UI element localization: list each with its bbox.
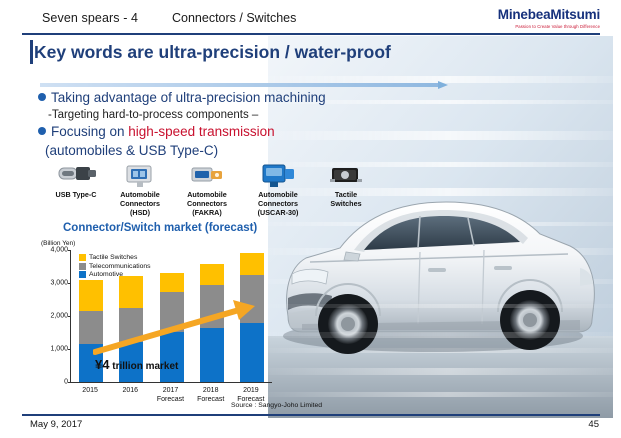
- header-divider: [22, 33, 600, 35]
- product-label-usb: USB Type-C: [45, 190, 107, 199]
- tactile-switch-icon: [315, 160, 377, 190]
- bullet-item-3: Focusing on high-speed transmission: [38, 124, 275, 139]
- product-usb-type-c: USB Type-C: [45, 160, 107, 199]
- footer-page-number: 45: [588, 419, 599, 430]
- x-axis-tick-label: 2017Forecast: [150, 387, 190, 404]
- arrow-bar: [40, 83, 440, 87]
- bullet-item-2: -Targeting hard-to-process components –: [48, 109, 258, 121]
- footer-date: May 9, 2017: [30, 419, 82, 430]
- product-uscar30: AutomobileConnectors(USCAR-30): [241, 160, 315, 217]
- product-icon-row: USB Type-C AutomobileConnectors(HSD): [45, 160, 375, 216]
- legend-label-automotive: Automotive: [89, 271, 123, 278]
- y-axis-tick-label: 4,000: [50, 247, 68, 254]
- bullet-dot-icon: [38, 93, 46, 101]
- automobile-connector-hsd-icon: [107, 160, 173, 190]
- chart-bar-segment: [160, 273, 184, 292]
- product-fakra: AutomobileConnectors(FAKRA): [173, 160, 241, 217]
- logo-name: MinebeaMitsumi: [498, 8, 600, 22]
- chart-bar-segment: [119, 308, 143, 342]
- chart-bar-segment: [200, 328, 224, 382]
- bullet-4-text: (automobiles & USB Type-C): [45, 143, 218, 158]
- bullet-2-text: -Targeting hard-to-process components –: [48, 109, 258, 121]
- page-title: Key words are ultra-precision / water-pr…: [34, 42, 391, 63]
- logo-tagline: Passion to Create Value through Differen…: [498, 23, 600, 30]
- slide-header: Seven spears - 4 Connectors / Switches M…: [22, 8, 600, 34]
- product-tactile-switch: TactileSwitches: [315, 160, 377, 208]
- callout-text: trillion market: [109, 361, 178, 372]
- x-axis-tick-label: 2016: [110, 387, 150, 396]
- automobile-connector-uscar30-icon: [241, 160, 315, 190]
- chart-bar-segment: [79, 280, 103, 311]
- decorative-arrow: [40, 81, 460, 88]
- company-logo: MinebeaMitsumi Passion to Create Value t…: [498, 8, 600, 30]
- automobile-connector-fakra-icon: [173, 160, 241, 190]
- legend-label-tactile: Tactile Switches: [89, 254, 137, 261]
- y-axis-tick-mark: [68, 349, 71, 350]
- legend-item-tactile: Tactile Switches: [79, 254, 151, 261]
- legend-swatch-telecom: [79, 263, 86, 270]
- market-forecast-chart: Connector/Switch market (forecast) (Bill…: [33, 222, 289, 408]
- y-axis-tick-mark: [68, 316, 71, 317]
- chart-bar-segment: [240, 323, 264, 382]
- chart-bar-group: [200, 264, 224, 382]
- chart-bar-segment: [200, 285, 224, 328]
- bullet-item-1: Taking advantage of ultra-precision mach…: [38, 90, 326, 105]
- x-axis-tick-label: 2018Forecast: [191, 387, 231, 404]
- chart-bar-segment: [79, 311, 103, 344]
- arrow-tip: [438, 81, 448, 89]
- chart-source: Source : Sangyo-Joho Limited: [231, 402, 322, 409]
- product-label-fakra: AutomobileConnectors(FAKRA): [173, 190, 241, 217]
- chart-bar-segment: [240, 253, 264, 275]
- x-axis-tick-label: 2015: [70, 387, 110, 396]
- product-hsd: AutomobileConnectors(HSD): [107, 160, 173, 217]
- title-accent-bar: [30, 40, 33, 64]
- slide-root: Seven spears - 4 Connectors / Switches M…: [0, 0, 621, 438]
- bullet-item-4: (automobiles & USB Type-C): [45, 143, 218, 158]
- chart-bar-segment: [200, 264, 224, 284]
- bullet-dot-icon: [38, 127, 46, 135]
- legend-label-telecom: Telecommunications: [89, 263, 151, 270]
- chart-bar-segment: [119, 276, 143, 308]
- chart-title: Connector/Switch market (forecast): [63, 222, 257, 234]
- chart-bar-group: [240, 253, 264, 382]
- legend-item-automotive: Automotive: [79, 271, 151, 278]
- footer-divider: [22, 414, 600, 416]
- y-axis-tick-mark: [68, 250, 71, 251]
- product-label-hsd: AutomobileConnectors(HSD): [107, 190, 173, 217]
- legend-swatch-automotive: [79, 271, 86, 278]
- product-label-tactile: TactileSwitches: [315, 190, 377, 208]
- market-size-callout: ¥4 trillion market: [95, 357, 178, 372]
- chart-bar-segment: [160, 292, 184, 332]
- bullet-3-prefix: Focusing on: [51, 124, 128, 139]
- product-label-uscar30: AutomobileConnectors(USCAR-30): [241, 190, 315, 217]
- header-subtitle: Connectors / Switches: [172, 11, 296, 25]
- chart-bar-segment: [240, 275, 264, 322]
- y-axis-tick-mark: [68, 382, 71, 383]
- y-axis-tick-label: 3,000: [50, 280, 68, 287]
- legend-item-telecom: Telecommunications: [79, 263, 151, 270]
- bullet-1-text: Taking advantage of ultra-precision mach…: [51, 90, 326, 105]
- y-axis-tick-label: 2,000: [50, 313, 68, 320]
- chart-legend: Tactile Switches Telecommunications Auto…: [79, 254, 151, 280]
- y-axis-tick-mark: [68, 283, 71, 284]
- bullet-3-highlight: high-speed transmission: [128, 124, 274, 139]
- header-title: Seven spears - 4: [42, 11, 138, 25]
- usb-type-c-connector-icon: [45, 160, 107, 190]
- y-axis-tick-label: 1,000: [50, 346, 68, 353]
- legend-swatch-tactile: [79, 254, 86, 261]
